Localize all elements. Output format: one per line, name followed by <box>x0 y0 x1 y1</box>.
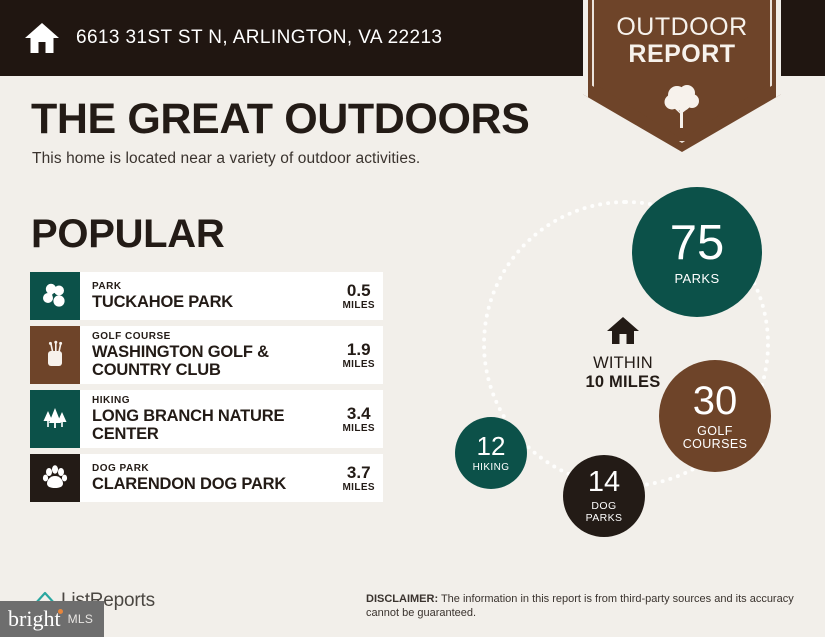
list-item-category: PARK <box>92 281 233 293</box>
golf-bag-icon <box>30 326 80 384</box>
bubble-label: HIKING <box>473 463 510 474</box>
property-address: 6613 31ST ST N, ARLINGTON, VA 22213 <box>76 27 442 49</box>
bubble-dog-parks[interactable]: 14 DOG PARKS <box>563 455 645 537</box>
bubble-value: 14 <box>588 468 620 497</box>
page-subtitle: This home is located near a variety of o… <box>32 150 420 168</box>
home-icon <box>606 332 640 349</box>
disclaimer: DISCLAIMER: The information in this repo… <box>366 592 806 620</box>
paw-print-icon <box>30 454 80 502</box>
distance-unit: MILES <box>342 300 375 311</box>
bubble-value: 75 <box>670 219 725 268</box>
distance-value: 3.7 <box>342 464 375 482</box>
badge-text: OUTDOOR REPORT <box>583 14 781 68</box>
list-item[interactable]: DOG PARK CLARENDON DOG PARK 3.7 MILES <box>30 454 383 502</box>
list-item-category: DOG PARK <box>92 463 286 475</box>
outdoor-report-page: 6613 31ST ST N, ARLINGTON, VA 22213 OUTD… <box>0 0 825 637</box>
center-line-1: WITHIN <box>553 354 693 373</box>
list-item-name: WASHINGTON GOLF & COUNTRY CLUB <box>92 343 334 379</box>
amenities-bubble-chart: WITHIN 10 MILES 75 PARKS 30 GOLF COURSES… <box>420 175 820 555</box>
distance-value: 1.9 <box>342 341 375 359</box>
bubble-label-line-2: PARKS <box>586 513 623 524</box>
tree-icon <box>660 80 704 135</box>
bright-mls-watermark: bright MLS <box>0 601 104 637</box>
list-item-distance: 3.4 MILES <box>334 405 375 434</box>
bright-mls-brand-text: bright <box>8 606 61 631</box>
popular-list: PARK TUCKAHOE PARK 0.5 MILES <box>30 272 383 508</box>
badge-line-2: REPORT <box>583 41 781 68</box>
distance-unit: MILES <box>342 423 375 434</box>
badge-line-1: OUTDOOR <box>583 14 781 41</box>
bubble-hiking[interactable]: 12 HIKING <box>455 417 527 489</box>
list-item[interactable]: GOLF COURSE WASHINGTON GOLF & COUNTRY CL… <box>30 326 383 384</box>
list-item-category: HIKING <box>92 395 334 407</box>
outdoor-report-badge: OUTDOOR REPORT <box>583 0 781 152</box>
bubble-label: PARKS <box>674 272 719 286</box>
bright-mls-suffix: MLS <box>68 612 94 626</box>
list-item[interactable]: HIKING LONG BRANCH NATURE CENTER 3.4 MIL… <box>30 390 383 448</box>
list-item-category: GOLF COURSE <box>92 331 334 343</box>
distance-unit: MILES <box>342 359 375 370</box>
park-tree-icon <box>30 272 80 320</box>
bubble-label: DOG PARKS <box>586 501 623 523</box>
bubble-label-line-1: DOG <box>586 501 623 512</box>
home-icon <box>24 21 60 55</box>
list-item[interactable]: PARK TUCKAHOE PARK 0.5 MILES <box>30 272 383 320</box>
list-item-name: CLARENDON DOG PARK <box>92 475 286 493</box>
orange-dot-icon <box>58 609 63 614</box>
list-item-distance: 0.5 MILES <box>334 282 375 311</box>
bubble-label-line-2: COURSES <box>683 438 748 451</box>
distance-value: 3.4 <box>342 405 375 423</box>
bubble-value: 12 <box>477 433 506 459</box>
list-item-name: LONG BRANCH NATURE CENTER <box>92 407 334 443</box>
bubble-value: 30 <box>693 381 738 421</box>
bright-mls-brand: bright <box>8 608 61 630</box>
distance-value: 0.5 <box>342 282 375 300</box>
disclaimer-label: DISCLAIMER: <box>366 593 438 605</box>
bubble-label: GOLF COURSES <box>683 425 748 451</box>
list-item-name: TUCKAHOE PARK <box>92 293 233 311</box>
distance-unit: MILES <box>342 482 375 493</box>
bubble-golf-courses[interactable]: 30 GOLF COURSES <box>659 360 771 472</box>
pine-trees-icon <box>30 390 80 448</box>
page-title: THE GREAT OUTDOORS <box>31 96 529 142</box>
bubble-parks[interactable]: 75 PARKS <box>632 187 762 317</box>
list-item-distance: 1.9 MILES <box>334 341 375 370</box>
list-item-distance: 3.7 MILES <box>334 464 375 493</box>
popular-heading: POPULAR <box>31 212 224 257</box>
